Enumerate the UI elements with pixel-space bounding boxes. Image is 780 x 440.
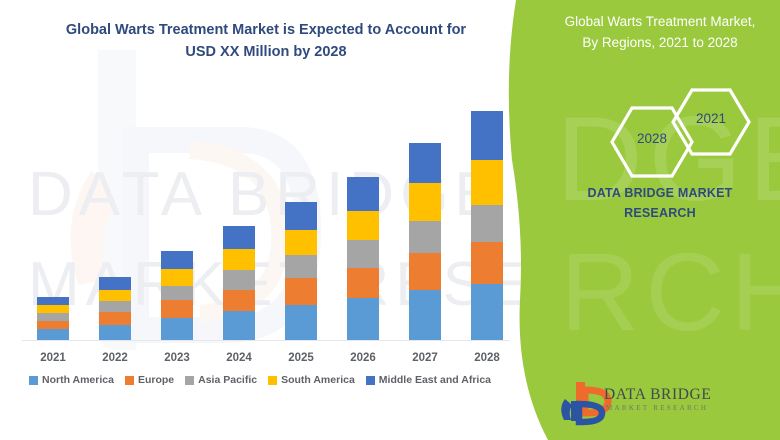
legend-label: Europe	[138, 374, 174, 386]
x-label-2023: 2023	[146, 352, 208, 364]
x-label-2022: 2022	[84, 352, 146, 364]
bar-segment-europe	[347, 268, 379, 299]
legend-item-asia-pacific[interactable]: Asia Pacific	[185, 374, 257, 386]
bar-segment-south-america	[99, 290, 131, 302]
panel-title: Global Warts Treatment Market, By Region…	[548, 12, 772, 54]
bar-segment-south-america	[347, 211, 379, 241]
bar-2027	[409, 143, 441, 340]
infographic-root: DATA BRIDGE MARKET RESEARCH Global Warts…	[0, 0, 780, 440]
bar-segment-asia-pacific	[409, 221, 441, 253]
bar-segment-europe	[161, 300, 193, 317]
legend-label: North America	[42, 374, 114, 386]
svg-text:RCH: RCH	[560, 231, 780, 354]
bar-2028	[471, 111, 503, 340]
bar-segment-europe	[99, 312, 131, 325]
bar-segment-south-america	[37, 305, 69, 313]
panel-title-line-2: By Regions, 2021 to 2028	[582, 35, 737, 50]
legend-swatch-icon	[366, 376, 375, 385]
bar-segment-middle-east-and-africa	[99, 277, 131, 290]
bar-segment-europe	[37, 321, 69, 330]
legend-item-middle-east-and-africa[interactable]: Middle East and Africa	[366, 374, 491, 386]
bar-segment-europe	[409, 253, 441, 290]
bar-segment-asia-pacific	[99, 301, 131, 312]
bar-segment-asia-pacific	[37, 313, 69, 321]
bar-segment-asia-pacific	[347, 240, 379, 267]
panel-subtitle-line-2: RESEARCH	[624, 206, 696, 220]
legend-swatch-icon	[29, 376, 38, 385]
bar-segment-middle-east-and-africa	[285, 202, 317, 230]
bar-2021	[37, 297, 69, 340]
bar-segment-middle-east-and-africa	[161, 251, 193, 269]
logo-name-primary: DATA BRIDGE	[604, 386, 711, 404]
bar-segment-north-america	[347, 298, 379, 340]
hexagon-label-2021: 2021	[679, 111, 743, 126]
bar-segment-asia-pacific	[285, 255, 317, 278]
bar-2022	[99, 277, 131, 340]
bar-segment-middle-east-and-africa	[37, 297, 69, 306]
bar-segment-south-america	[285, 230, 317, 255]
bar-segment-north-america	[223, 311, 255, 340]
legend-item-europe[interactable]: Europe	[125, 374, 174, 386]
bar-segment-asia-pacific	[161, 286, 193, 300]
bar-segment-middle-east-and-africa	[223, 226, 255, 249]
bar-segment-south-america	[471, 160, 503, 204]
bar-2023	[161, 251, 193, 340]
bar-segment-north-america	[409, 290, 441, 340]
x-label-2028: 2028	[456, 352, 518, 364]
bar-2025	[285, 202, 317, 340]
bar-segment-asia-pacific	[223, 270, 255, 289]
x-label-2025: 2025	[270, 352, 332, 364]
legend-item-south-america[interactable]: South America	[268, 374, 355, 386]
bar-segment-south-america	[409, 183, 441, 221]
bar-segment-europe	[223, 290, 255, 311]
bar-segment-north-america	[99, 325, 131, 340]
bar-segment-europe	[285, 278, 317, 305]
hexagon-group: 2028 2021	[595, 84, 760, 199]
panel-title-line-1: Global Warts Treatment Market,	[565, 14, 756, 29]
x-label-2021: 2021	[22, 352, 84, 364]
legend-item-north-america[interactable]: North America	[29, 374, 114, 386]
bar-segment-north-america	[161, 318, 193, 340]
bar-segment-asia-pacific	[471, 205, 503, 243]
x-label-2027: 2027	[394, 352, 456, 364]
legend-label: Middle East and Africa	[379, 374, 491, 386]
panel-subtitle: DATA BRIDGE MARKET RESEARCH	[548, 183, 772, 223]
bar-segment-middle-east-and-africa	[471, 111, 503, 160]
chart-legend: North AmericaEuropeAsia PacificSouth Ame…	[0, 374, 520, 386]
x-axis-line	[22, 340, 510, 341]
legend-swatch-icon	[185, 376, 194, 385]
bar-segment-south-america	[223, 249, 255, 270]
bar-segment-north-america	[37, 329, 69, 340]
x-label-2026: 2026	[332, 352, 394, 364]
bar-2026	[347, 177, 379, 340]
legend-swatch-icon	[125, 376, 134, 385]
x-label-2024: 2024	[208, 352, 270, 364]
bar-segment-europe	[471, 242, 503, 284]
bar-segment-middle-east-and-africa	[409, 143, 441, 184]
legend-label: Asia Pacific	[198, 374, 257, 386]
hexagon-label-2028: 2028	[618, 131, 686, 146]
legend-swatch-icon	[268, 376, 277, 385]
bar-segment-middle-east-and-africa	[347, 177, 379, 211]
legend-label: South America	[281, 374, 355, 386]
bar-2024	[223, 226, 255, 340]
logo-name-secondary: MARKET RESEARCH	[606, 404, 708, 412]
panel-subtitle-line-1: DATA BRIDGE MARKET	[587, 186, 732, 200]
bar-segment-south-america	[161, 269, 193, 285]
bar-segment-north-america	[471, 284, 503, 340]
bar-segment-north-america	[285, 305, 317, 340]
